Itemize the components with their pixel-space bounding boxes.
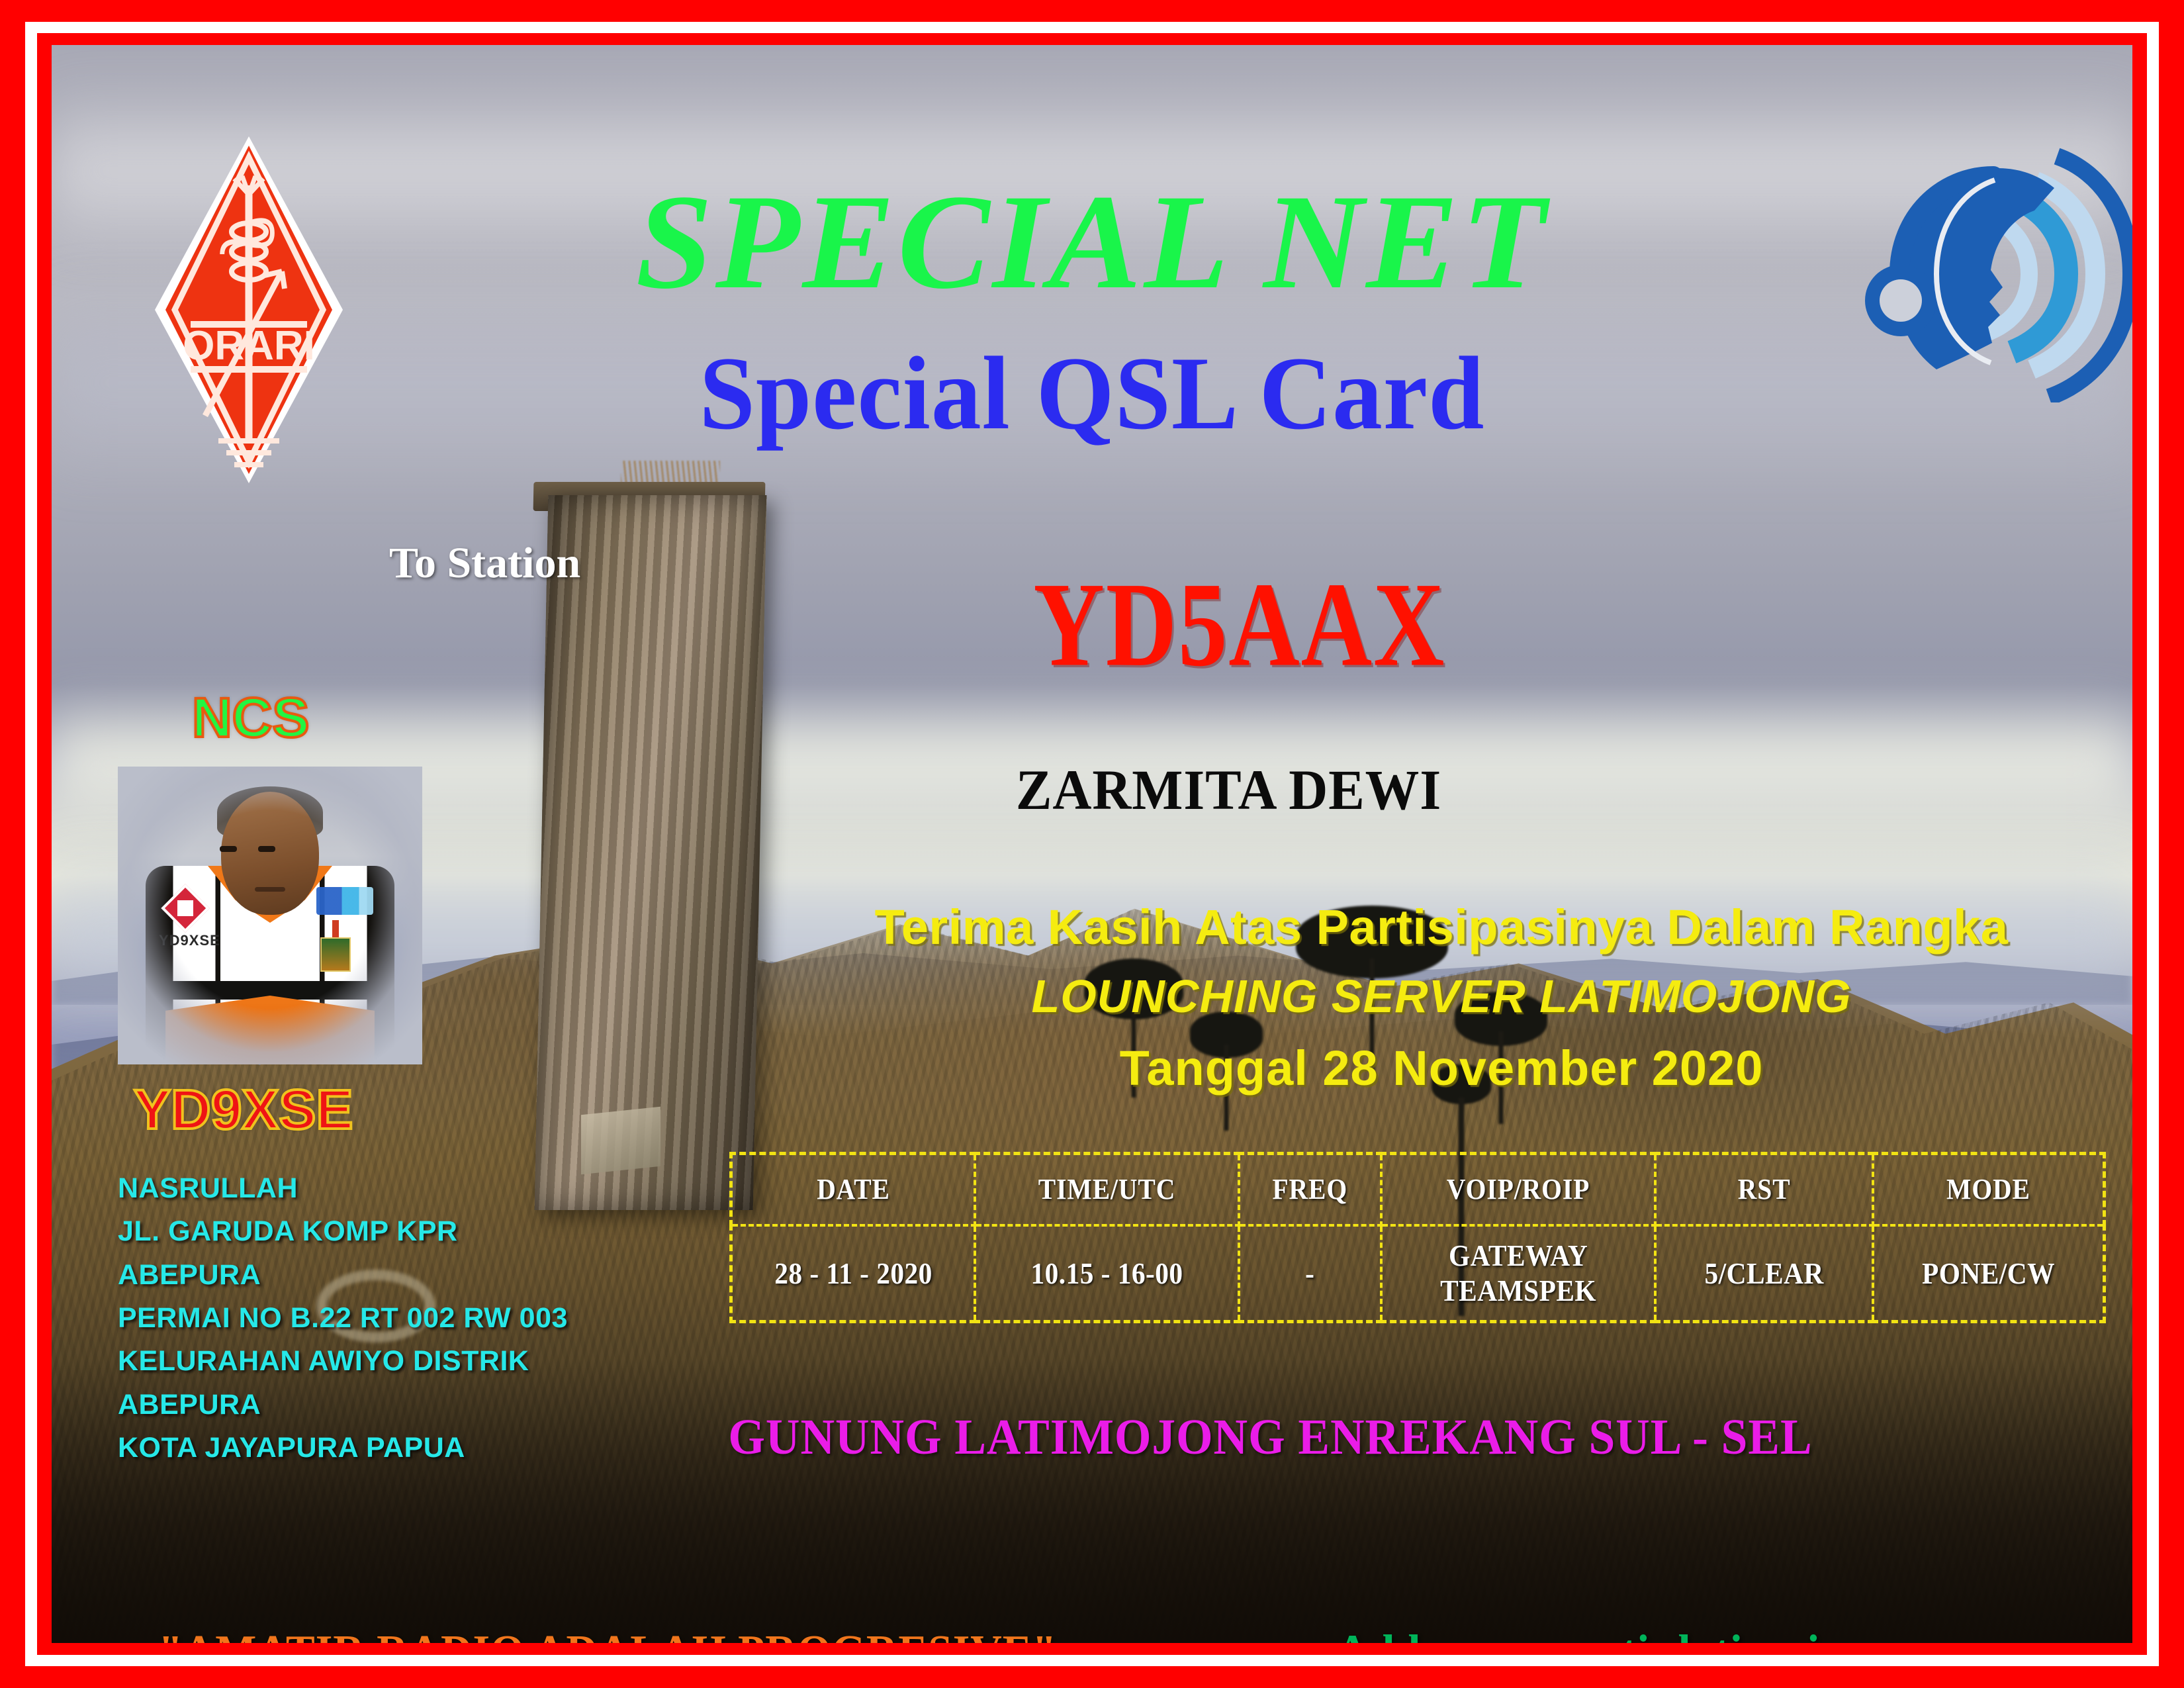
recipient-callsign: YD5AAX <box>1033 564 1445 684</box>
pillar-plaque <box>581 1107 660 1175</box>
recipient-operator-name: ZARMITA DEWI <box>1016 757 1441 823</box>
cell-freq: - <box>1246 1225 1374 1322</box>
background-photo: ORARI SPECIAL NET Special QSL Card <box>52 45 2132 1643</box>
event-date-line: Tanggal 28 November 2020 <box>753 1040 2130 1096</box>
header-voip-roip: VOIP/ROIP <box>1394 1154 1641 1225</box>
thanks-line: Terima Kasih Atas Partisipasinya Dalam R… <box>753 899 2130 955</box>
header-freq: FREQ <box>1246 1154 1374 1225</box>
ncs-label: NCS <box>192 686 309 750</box>
page-title: SPECIAL NET <box>52 174 2132 310</box>
address-line: KOTA JAYAPURA PAPUA <box>118 1427 674 1470</box>
ncs-address-block: NASRULLAH JL. GARUDA KOMP KPR ABEPURA PE… <box>118 1167 674 1470</box>
table-row: 28 - 11 - 2020 10.15 - 16-00 - GATEWAY T… <box>731 1225 2105 1322</box>
header-date: DATE <box>743 1154 963 1225</box>
web-address-text: Address : amatir.latimojong.com <box>1336 1624 1986 1643</box>
table-header-row: DATE TIME/UTC FREQ VOIP/ROIP RST MODE <box>731 1154 2105 1225</box>
address-line: ABEPURA <box>118 1383 674 1427</box>
cell-time: 10.15 - 16-00 <box>988 1225 1226 1322</box>
address-line: JL. GARUDA KOMP KPR <box>118 1210 674 1253</box>
cell-date: 28 - 11 - 2020 <box>743 1225 963 1322</box>
to-station-label: To Station <box>389 538 580 588</box>
cell-voip-line1: GATEWAY <box>1396 1238 1639 1273</box>
address-line: ABEPURA <box>118 1254 674 1297</box>
address-line: KELURAHAN AWIYO DISTRIK <box>118 1340 674 1383</box>
page-subtitle: Special QSL Card <box>93 342 2091 446</box>
cell-rst: 5/CLEAR <box>1666 1225 1862 1322</box>
ncs-callsign: YD9XSE <box>134 1078 353 1142</box>
address-line: NASRULLAH <box>118 1167 674 1210</box>
ncs-operator-photo: YD9XSE <box>118 767 422 1064</box>
photo-vignette <box>118 767 422 1064</box>
qsl-card: ORARI SPECIAL NET Special QSL Card <box>0 0 2184 1688</box>
cell-mode: PONE/CW <box>1885 1225 2093 1322</box>
motto-text: "AMATIR RADIO ADALAH PROGRESIVE" <box>158 1626 1057 1643</box>
cell-voip-line2: TEAMSPEK <box>1396 1273 1639 1308</box>
qso-log-table: DATE TIME/UTC FREQ VOIP/ROIP RST MODE 28… <box>729 1152 2106 1323</box>
event-line: LOUNCHING SERVER LATIMOJONG <box>753 970 2130 1023</box>
cell-voip: GATEWAY TEAMSPEK <box>1394 1225 1641 1322</box>
address-line: PERMAI NO B.22 RT 002 RW 003 <box>118 1297 674 1340</box>
header-time-utc: TIME/UTC <box>988 1154 1226 1225</box>
stone-monument-pillar <box>535 495 767 1210</box>
header-mode: MODE <box>1885 1154 2093 1225</box>
header-rst: RST <box>1666 1154 1862 1225</box>
location-line: GUNUNG LATIMOJONG ENREKANG SUL - SEL <box>728 1409 2022 1466</box>
thanks-block: Terima Kasih Atas Partisipasinya Dalam R… <box>753 899 2130 1096</box>
